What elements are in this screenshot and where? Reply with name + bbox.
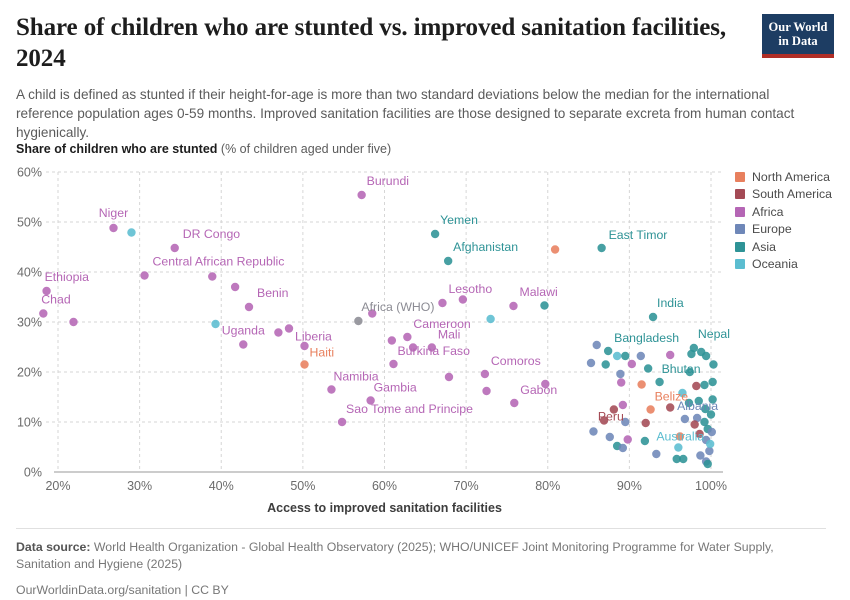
x-tick-label: 90% — [617, 479, 642, 493]
data-point[interactable] — [666, 403, 674, 411]
data-point[interactable] — [700, 418, 708, 426]
page-title: Share of children who are stunted vs. im… — [16, 12, 756, 75]
data-point[interactable] — [486, 315, 494, 323]
x-tick-label: 100% — [695, 479, 727, 493]
data-point-label: Gambia — [374, 381, 417, 395]
data-point[interactable] — [388, 336, 396, 344]
data-point[interactable] — [613, 442, 621, 450]
data-point-liberia[interactable] — [285, 324, 293, 332]
data-point-central-african-republic[interactable] — [140, 271, 148, 279]
data-point[interactable] — [678, 389, 686, 397]
data-point[interactable] — [624, 435, 632, 443]
owid-logo-line1: Our World — [766, 20, 830, 34]
data-point[interactable] — [619, 401, 627, 409]
y-tick-label: 0% — [24, 466, 42, 480]
y-axis-caption-unit: (% of children aged under five) — [217, 142, 391, 156]
data-point[interactable] — [445, 373, 453, 381]
legend-item-oceania[interactable]: Oceania — [735, 256, 847, 274]
data-point[interactable] — [644, 364, 652, 372]
data-source-label: Data source: — [16, 540, 91, 554]
data-point[interactable] — [700, 381, 708, 389]
data-point[interactable] — [686, 368, 694, 376]
legend-item-label: Africa — [752, 205, 783, 219]
data-point-label: Mali — [438, 328, 461, 342]
data-point-label: DR Congo — [183, 227, 241, 241]
x-tick-label: 50% — [290, 479, 315, 493]
data-point[interactable] — [666, 351, 674, 359]
data-point-labels: NigerDR CongoCentral African RepublicEth… — [41, 174, 730, 444]
data-point[interactable] — [587, 359, 595, 367]
y-axis-caption: Share of children who are stunted (% of … — [16, 142, 391, 156]
data-point[interactable] — [708, 378, 716, 386]
data-point-lesotho[interactable] — [438, 299, 446, 307]
x-tick-label: 30% — [127, 479, 152, 493]
y-tick-label: 40% — [17, 266, 42, 280]
legend-item-africa[interactable]: Africa — [735, 203, 847, 221]
data-point-label: Australia — [656, 430, 704, 444]
legend-item-label: North America — [752, 170, 830, 184]
x-axis-ticks: 20%30%40%50%60%70%80%90%100% — [45, 479, 727, 493]
legend-item-north-america[interactable]: North America — [735, 168, 847, 186]
data-point-burundi[interactable] — [357, 191, 365, 199]
data-point-peru[interactable] — [610, 405, 618, 413]
data-point[interactable] — [541, 380, 549, 388]
data-point[interactable] — [637, 352, 645, 360]
data-point[interactable] — [708, 395, 716, 403]
data-point-label: Burundi — [367, 174, 409, 188]
data-point-label: Comoros — [491, 354, 541, 368]
data-point[interactable] — [679, 455, 687, 463]
data-point-haiti[interactable] — [300, 360, 308, 368]
data-point[interactable] — [652, 450, 660, 458]
data-point[interactable] — [697, 348, 705, 356]
legend-swatch-icon — [735, 242, 745, 252]
x-tick-label: 60% — [372, 479, 397, 493]
data-point-namibia[interactable] — [327, 385, 335, 393]
data-point-bhutan[interactable] — [655, 378, 663, 386]
x-tick-label: 40% — [209, 479, 234, 493]
data-point[interactable] — [641, 437, 649, 445]
data-point-label: East Timor — [609, 228, 668, 242]
data-point-label: Sao Tome and Principe — [346, 402, 473, 416]
data-point[interactable] — [616, 370, 624, 378]
data-source: Data source: World Health Organization -… — [16, 539, 826, 574]
legend-item-label: Europe — [752, 222, 792, 236]
data-point-label: Benin — [257, 286, 289, 300]
data-point[interactable] — [368, 309, 376, 317]
chart-footer: Data source: World Health Organization -… — [16, 528, 826, 597]
data-point-cameroon[interactable] — [403, 333, 411, 341]
data-point-mali[interactable] — [428, 343, 436, 351]
data-point[interactable] — [621, 418, 629, 426]
data-point-gambia[interactable] — [366, 396, 374, 404]
data-point-label: Gabon — [520, 383, 557, 397]
data-point[interactable] — [702, 436, 710, 444]
legend-swatch-icon — [735, 259, 745, 269]
data-point[interactable] — [673, 455, 681, 463]
legend-item-label: South America — [752, 187, 832, 201]
data-point[interactable] — [702, 457, 710, 465]
data-point[interactable] — [695, 430, 703, 438]
data-point-label: Burkina Faso — [397, 344, 470, 358]
data-point-label: Albania — [677, 399, 718, 413]
data-point[interactable] — [696, 451, 704, 459]
data-point[interactable] — [589, 427, 597, 435]
data-point[interactable] — [701, 405, 709, 413]
owid-chart-page: Share of children who are stunted vs. im… — [0, 0, 850, 600]
data-point-east-timor[interactable] — [597, 244, 605, 252]
data-point-benin[interactable] — [245, 303, 253, 311]
data-point-label: Bhutan — [662, 362, 701, 376]
x-tick-label: 80% — [535, 479, 560, 493]
data-point-label: Afghanistan — [453, 240, 518, 254]
data-point-label: Malawi — [519, 285, 557, 299]
data-point-label: Ethiopia — [45, 270, 90, 284]
data-point-label: Uganda — [222, 324, 265, 338]
data-point[interactable] — [600, 416, 608, 424]
y-tick-label: 10% — [17, 416, 42, 430]
data-point[interactable] — [617, 378, 625, 386]
data-point[interactable] — [482, 387, 490, 395]
footer-link[interactable]: OurWorldinData.org/sanitation | CC BY — [16, 583, 826, 597]
legend-swatch-icon — [735, 172, 745, 182]
data-point-malawi[interactable] — [509, 302, 517, 310]
data-point[interactable] — [602, 360, 610, 368]
data-point[interactable] — [681, 415, 689, 423]
data-point-gabon[interactable] — [510, 399, 518, 407]
data-point-uganda[interactable] — [239, 340, 247, 348]
data-point[interactable] — [211, 320, 219, 328]
data-point[interactable] — [642, 419, 650, 427]
data-point[interactable] — [704, 460, 712, 468]
data-points — [39, 191, 718, 468]
data-point-label: Bangladesh — [614, 331, 679, 345]
legend-swatch-icon — [735, 207, 745, 217]
data-point-label: Belize — [655, 390, 689, 404]
data-point-sao-tome-and-principe[interactable] — [338, 418, 346, 426]
data-point-niger[interactable] — [109, 224, 117, 232]
data-point-label: Yemen — [440, 213, 478, 227]
data-point[interactable] — [628, 360, 636, 368]
y-tick-label: 60% — [17, 166, 42, 180]
x-axis-title: Access to improved sanitation facilities — [267, 501, 502, 515]
data-point-label: Central African Republic — [153, 255, 285, 269]
data-point[interactable] — [300, 342, 308, 350]
data-point-label: Africa (WHO) — [361, 300, 434, 314]
data-point[interactable] — [231, 283, 239, 291]
data-point-nepal[interactable] — [690, 344, 698, 352]
data-point[interactable] — [619, 444, 627, 452]
data-point-label: Cameroon — [413, 317, 471, 331]
legend-item-europe[interactable]: Europe — [735, 221, 847, 239]
data-point[interactable] — [690, 420, 698, 428]
data-point-comoros[interactable] — [481, 370, 489, 378]
owid-logo[interactable]: Our World in Data — [762, 14, 834, 58]
data-point-label: Chad — [41, 293, 71, 307]
data-point[interactable] — [208, 272, 216, 280]
data-point-dr-congo[interactable] — [171, 244, 179, 252]
data-point-australia[interactable] — [674, 443, 682, 451]
data-point-belize[interactable] — [646, 405, 654, 413]
data-point-label: Lesotho — [448, 282, 492, 296]
data-point[interactable] — [540, 301, 548, 309]
data-point[interactable] — [69, 318, 77, 326]
data-point[interactable] — [692, 382, 700, 390]
x-tick-label: 20% — [45, 479, 70, 493]
chart-header: Share of children who are stunted vs. im… — [16, 12, 756, 142]
owid-logo-line2: in Data — [766, 34, 830, 48]
data-point[interactable] — [709, 360, 717, 368]
y-axis-caption-bold: Share of children who are stunted — [16, 142, 217, 156]
data-point[interactable] — [621, 352, 629, 360]
data-point-africa-who-[interactable] — [354, 317, 362, 325]
data-point-label: Namibia — [333, 370, 378, 384]
legend-item-label: Asia — [752, 240, 776, 254]
y-tick-label: 20% — [17, 366, 42, 380]
data-point-albania[interactable] — [693, 414, 701, 422]
data-point[interactable] — [704, 425, 712, 433]
data-point[interactable] — [459, 295, 467, 303]
data-point[interactable] — [593, 341, 601, 349]
data-point[interactable] — [637, 380, 645, 388]
data-point[interactable] — [695, 397, 703, 405]
data-point[interactable] — [707, 410, 715, 418]
data-point[interactable] — [676, 432, 684, 440]
data-point-ethiopia[interactable] — [42, 287, 50, 295]
data-point[interactable] — [613, 352, 621, 360]
data-point[interactable] — [606, 433, 614, 441]
data-point[interactable] — [409, 343, 417, 351]
gridlines — [46, 172, 723, 472]
data-point[interactable] — [705, 447, 713, 455]
data-point-label: Haiti — [310, 346, 335, 360]
legend-item-south-america[interactable]: South America — [735, 186, 847, 204]
data-point-yemen[interactable] — [431, 230, 439, 238]
data-point-bangladesh[interactable] — [604, 347, 612, 355]
data-point-chad[interactable] — [39, 309, 47, 317]
data-source-text: World Health Organization - Global Healt… — [16, 540, 774, 571]
x-tick-label: 70% — [454, 479, 479, 493]
data-point[interactable] — [702, 352, 710, 360]
data-point[interactable] — [685, 399, 693, 407]
data-point[interactable] — [551, 245, 559, 253]
data-point-label: Liberia — [295, 330, 332, 344]
y-tick-label: 50% — [17, 216, 42, 230]
y-axis-ticks: 0%10%20%30%40%50%60% — [17, 166, 42, 480]
legend: North AmericaSouth AmericaAfricaEuropeAs… — [735, 168, 847, 273]
data-point[interactable] — [708, 428, 716, 436]
data-point-label: Niger — [99, 206, 128, 220]
legend-swatch-icon — [735, 224, 745, 234]
data-point[interactable] — [274, 328, 282, 336]
legend-item-asia[interactable]: Asia — [735, 238, 847, 256]
data-point-india[interactable] — [649, 313, 657, 321]
data-point-label: Nepal — [698, 327, 730, 341]
y-tick-label: 30% — [17, 316, 42, 330]
legend-item-label: Oceania — [752, 257, 798, 271]
data-point[interactable] — [687, 350, 695, 358]
data-point-label: India — [657, 296, 684, 310]
data-point-burkina-faso[interactable] — [389, 360, 397, 368]
legend-swatch-icon — [735, 189, 745, 199]
data-point[interactable] — [706, 440, 714, 448]
chart-subtitle: A child is defined as stunted if their h… — [16, 85, 816, 143]
data-point-afghanistan[interactable] — [444, 257, 452, 265]
data-point-label: Peru — [598, 410, 624, 424]
data-point[interactable] — [127, 228, 135, 236]
